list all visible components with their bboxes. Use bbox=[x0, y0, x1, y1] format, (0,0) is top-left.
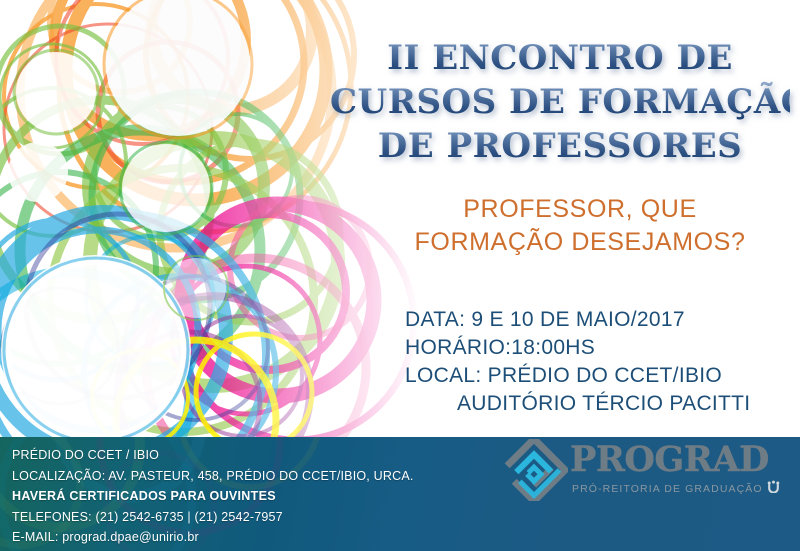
footer-building: PRÉDIO DO CCET / IBIO bbox=[12, 445, 414, 466]
prograd-tagline: PRÓ-REITORIA DE GRADUAÇÃO bbox=[572, 480, 780, 496]
event-auditorium: AUDITÓRIO TÉRCIO PACITTI bbox=[405, 390, 795, 418]
prograd-spiral-diamond-icon bbox=[500, 439, 568, 501]
title-line-3: DE PROFESSORES bbox=[330, 124, 790, 168]
unirio-crown-u-icon bbox=[767, 480, 780, 496]
subtitle-line-1: PROFESSOR, QUE bbox=[370, 193, 790, 226]
event-venue: LOCAL: PRÉDIO DO CCET/IBIO bbox=[405, 362, 795, 390]
footer-address: LOCALIZAÇÃO: AV. PASTEUR, 458, PRÉDIO DO… bbox=[12, 466, 414, 487]
prograd-tagline-text: PRÓ-REITORIA DE GRADUAÇÃO bbox=[572, 483, 763, 495]
event-details: DATA: 9 E 10 DE MAIO/2017 HORÁRIO:18:00H… bbox=[405, 306, 795, 418]
poster-title: II ENCONTRO DE CURSOS DE FORMAÇÃO DE PRO… bbox=[330, 36, 790, 168]
event-time: HORÁRIO:18:00HS bbox=[405, 334, 795, 362]
subtitle-line-2: FORMAÇÃO DESEJAMOS? bbox=[370, 226, 790, 259]
footer-contact-info: PRÉDIO DO CCET / IBIO LOCALIZAÇÃO: AV. P… bbox=[12, 445, 414, 548]
poster-subtitle: PROFESSOR, QUE FORMAÇÃO DESEJAMOS? bbox=[370, 193, 790, 259]
prograd-wordmark: PROGRAD bbox=[570, 441, 769, 478]
footer-certificates-note: HAVERÁ CERTIFICADOS PARA OUVINTES bbox=[12, 486, 414, 507]
poster-canvas: II ENCONTRO DE CURSOS DE FORMAÇÃO DE PRO… bbox=[0, 0, 800, 551]
title-line-2: CURSOS DE FORMAÇÃO bbox=[330, 80, 790, 124]
footer-phones: TELEFONES: (21) 2542-6735 | (21) 2542-79… bbox=[12, 507, 414, 528]
footer-bar: PRÉDIO DO CCET / IBIO LOCALIZAÇÃO: AV. P… bbox=[0, 437, 800, 551]
event-date: DATA: 9 E 10 DE MAIO/2017 bbox=[405, 306, 795, 334]
footer-email: E-MAIL: prograd.dpae@unirio.br bbox=[12, 527, 414, 548]
title-line-1: II ENCONTRO DE bbox=[330, 36, 790, 80]
prograd-logo: PROGRAD PRÓ-REITORIA DE GRADUAÇÃO bbox=[500, 437, 790, 511]
